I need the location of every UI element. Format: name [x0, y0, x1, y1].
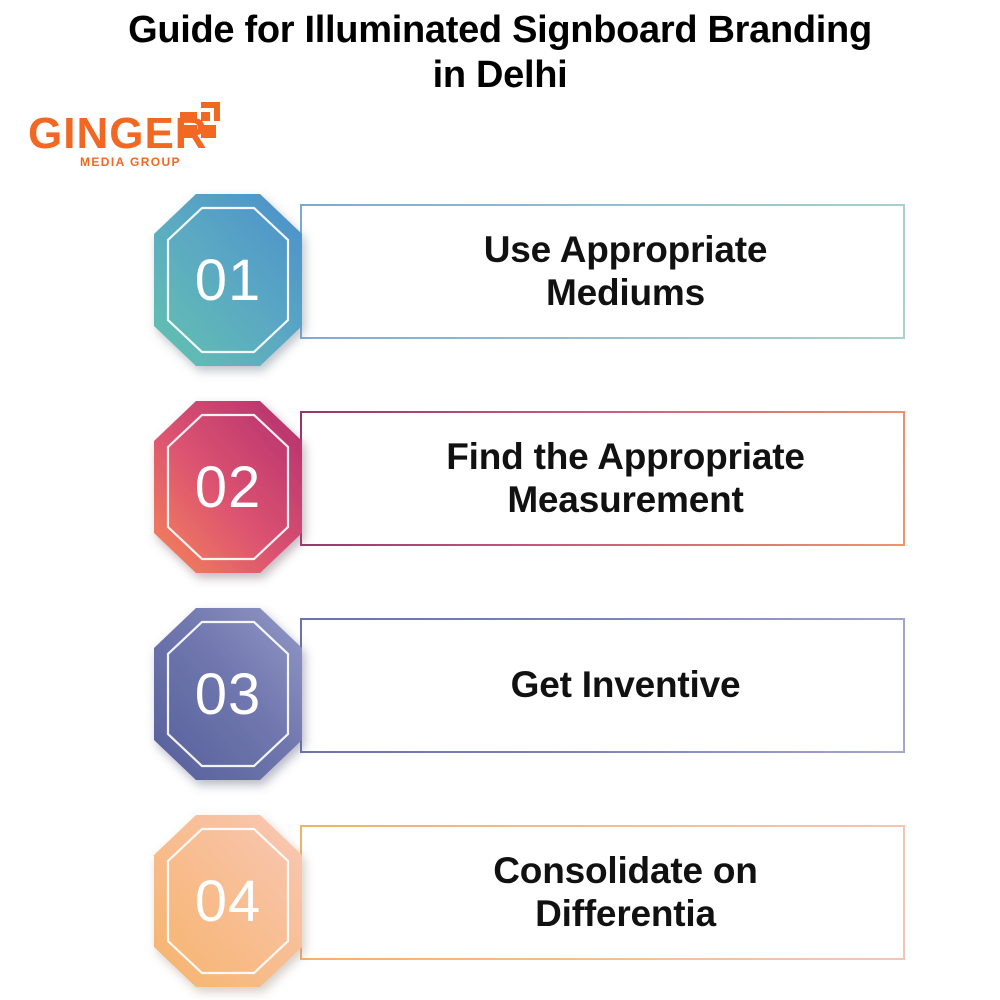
- step-badge-4[interactable]: 04: [128, 811, 328, 991]
- page-title: Guide for Illuminated Signboard Branding…: [0, 8, 1000, 98]
- ginger-square-mark-icon: [178, 100, 224, 146]
- step-item-1: Use Appropriate Mediums 01: [0, 190, 1000, 375]
- step-badge-1[interactable]: 01: [128, 190, 328, 370]
- step-badge-3[interactable]: 03: [128, 604, 328, 784]
- step-label-4: Consolidate on Differentia: [437, 850, 767, 936]
- brand-logo: GINGER MEDIA GROUP: [28, 100, 238, 185]
- step-label-3: Get Inventive: [455, 664, 751, 707]
- step-panel-4[interactable]: Consolidate on Differentia: [300, 825, 905, 960]
- step-panel-1[interactable]: Use Appropriate Mediums: [300, 204, 905, 339]
- step-item-3: Get Inventive 03: [0, 604, 1000, 789]
- step-item-4: Consolidate on Differentia 04: [0, 811, 1000, 996]
- step-panel-2[interactable]: Find the Appropriate Measurement: [300, 411, 905, 546]
- step-label-1: Use Appropriate Mediums: [428, 229, 777, 315]
- logo-tagline: MEDIA GROUP: [80, 156, 181, 168]
- step-panel-3[interactable]: Get Inventive: [300, 618, 905, 753]
- step-item-2: Find the Appropriate Measurement 02: [0, 397, 1000, 582]
- step-badge-2[interactable]: 02: [128, 397, 328, 577]
- steps-list: Use Appropriate Mediums 01: [0, 190, 1000, 996]
- step-label-2: Find the Appropriate Measurement: [390, 436, 814, 522]
